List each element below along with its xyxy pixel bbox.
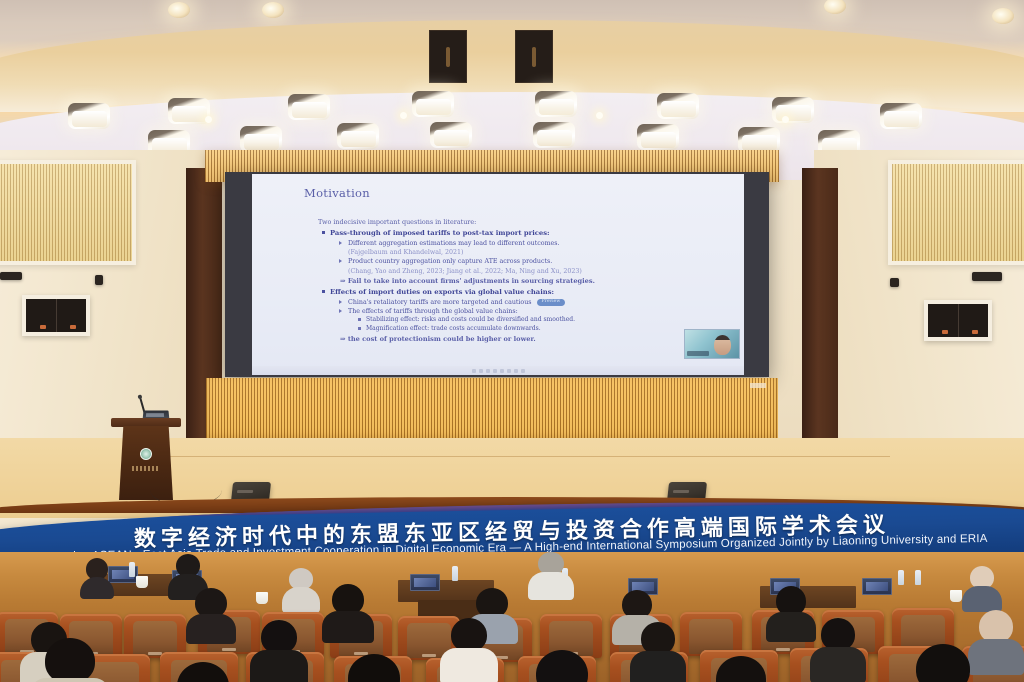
slide-bullet-2: Effects of import duties on exports via …	[330, 288, 738, 345]
slide-bullet-2-sub-2-text: The effects of tariffs through the globa…	[348, 308, 518, 315]
audience-person-a2	[322, 584, 374, 638]
wall-speaker-left-small	[95, 275, 103, 285]
slide-preview-badge: Preview	[537, 299, 566, 306]
slide-bullet-2-sub-2-item-1: Stabilizing effect: risks and costs coul…	[366, 316, 738, 325]
audience-person-b3	[440, 618, 498, 682]
university-emblem-icon	[140, 448, 152, 460]
toolbar-icon-3[interactable]	[486, 369, 490, 373]
remote-participant-video	[684, 329, 740, 359]
ceiling-light-r1-7	[772, 97, 814, 123]
stage-back-wainscot	[206, 378, 778, 440]
wall-speaker-left-long	[0, 272, 22, 280]
ceiling-downlight-3	[596, 112, 603, 119]
slide-bullet-2-sub-2-item-2: Magnification effect: trade costs accumu…	[366, 325, 738, 334]
slide-stabilizing-effect-text: Stabilizing effect: risks and costs coul…	[366, 316, 575, 323]
podium-nameplate	[132, 466, 160, 471]
ceiling-light-r1-1	[68, 103, 110, 129]
pdf-viewer-toolbar[interactable]	[252, 366, 744, 375]
ceiling-light-r1-8	[880, 103, 922, 129]
ceiling-downlight-2	[400, 112, 407, 119]
slide-bullet-2-sub-1-text: China's retaliatory tariffs are more tar…	[348, 299, 532, 306]
speaker-podium	[115, 418, 177, 500]
slide-title: Motivation	[304, 186, 370, 200]
toolbar-icon-5[interactable]	[500, 369, 504, 373]
slide-bullet-2-sub-2: The effects of tariffs through the globa…	[348, 307, 738, 334]
ceiling-spotlight-4	[992, 8, 1014, 24]
audience-person-b4	[630, 622, 686, 682]
control-window-right	[924, 300, 992, 341]
toolbar-icon-4[interactable]	[493, 369, 497, 373]
wall-speaker-right-small	[890, 278, 899, 287]
slide-bullet-1-sub-1-text: Different aggregation estimations may le…	[348, 240, 560, 247]
ceiling-light-r2-4	[430, 122, 472, 148]
paper-cup-1	[136, 576, 148, 588]
ceiling-spotlight-1	[168, 2, 190, 18]
audience-area	[0, 552, 1024, 682]
slide-lead-text: Two indecisive important questions in li…	[318, 218, 738, 227]
ceiling-light-r2-3	[337, 123, 379, 149]
wainscot-placard	[750, 383, 766, 388]
audience-person-c5	[700, 656, 782, 682]
wall-speaker-right-long	[972, 272, 1002, 281]
acoustic-slat-panel-left	[0, 160, 136, 265]
dais-person-4	[528, 552, 574, 600]
slide-bullet-1: Pass-through of imposed tariffs to post-…	[330, 229, 738, 286]
ceiling-light-r2-6	[637, 124, 679, 150]
control-window-left	[22, 295, 90, 336]
audience-person-a1	[186, 588, 236, 638]
slide-bullet-1-text: Pass-through of imposed tariffs to post-…	[330, 229, 550, 237]
audience-person-c1	[30, 638, 110, 682]
slide-bullet-2-sub-1: China's retaliatory tariffs are more tar…	[348, 298, 738, 307]
slide-magnification-effect-text: Magnification effect: trade costs accumu…	[366, 325, 541, 332]
paper-cup-4	[950, 590, 962, 602]
ceiling-spotlight-2	[262, 2, 284, 18]
toolbar-icon-8[interactable]	[521, 369, 525, 373]
ceiling-light-r2-2	[240, 126, 282, 152]
water-bottle-2	[452, 566, 458, 581]
audience-person-b2	[250, 620, 308, 682]
ceiling-light-r2-5	[533, 122, 575, 148]
audience-person-b5	[810, 618, 866, 680]
projection-screen: Motivation Two indecisive important ques…	[252, 174, 744, 375]
table-laptop-6	[862, 578, 892, 595]
acoustic-slat-panel-right	[888, 160, 1024, 265]
ceiling-vent-left	[429, 30, 467, 83]
audience-person-a5	[766, 586, 816, 638]
ceiling-light-r1-2	[168, 98, 210, 124]
water-bottle-5	[915, 570, 921, 585]
slide-arrow-2: ⇒ the cost of protectionism could be hig…	[340, 335, 738, 345]
slide-bullet-1-sub-2-text: Product country aggregation only capture…	[348, 258, 552, 265]
water-bottle-1	[129, 562, 135, 577]
toolbar-icon-2[interactable]	[479, 369, 483, 373]
slide-bullet-1-sub-1: Different aggregation estimations may le…	[348, 239, 738, 257]
ceiling-light-r1-3	[288, 94, 330, 120]
podium-top-surface	[111, 418, 181, 427]
dais-person-3	[282, 568, 320, 612]
slide-bullet-1-sub-2: Product country aggregation only capture…	[348, 257, 738, 275]
water-bottle-4	[898, 570, 904, 585]
conference-hall-photo: Motivation Two indecisive important ques…	[0, 0, 1024, 682]
toolbar-icon-7[interactable]	[514, 369, 518, 373]
ceiling-light-r1-4	[412, 91, 454, 117]
audience-person-c4	[520, 650, 604, 682]
dais-person-1	[80, 558, 114, 598]
ceiling-downlight-1	[205, 116, 212, 123]
podium-body	[119, 426, 173, 500]
audience-person-c2	[160, 662, 246, 682]
dais-person-5	[962, 566, 1002, 612]
audience-person-c3	[332, 654, 416, 682]
ceiling-light-r1-5	[535, 91, 577, 117]
table-laptop-3	[410, 574, 440, 591]
audience-person-c6	[900, 644, 986, 682]
slide-citation-2: (Chang, Yao and Zheng, 2023; Jiang et al…	[348, 267, 738, 276]
toolbar-icon-6[interactable]	[507, 369, 511, 373]
ceiling-vent-right	[515, 30, 553, 83]
paper-cup-2	[256, 592, 268, 604]
ceiling-downlight-4	[782, 116, 789, 123]
slide-body: Two indecisive important questions in li…	[318, 218, 738, 346]
slide-citation-1: (Fajgelbaum and Khandelwal, 2021)	[348, 248, 738, 257]
slide-arrow-1: ⇒ Fail to take into account firms' adjus…	[340, 277, 738, 287]
slide-bullet-2-text: Effects of import duties on exports via …	[330, 288, 554, 296]
ceiling-light-r1-6	[657, 93, 699, 119]
toolbar-icon-1[interactable]	[472, 369, 476, 373]
